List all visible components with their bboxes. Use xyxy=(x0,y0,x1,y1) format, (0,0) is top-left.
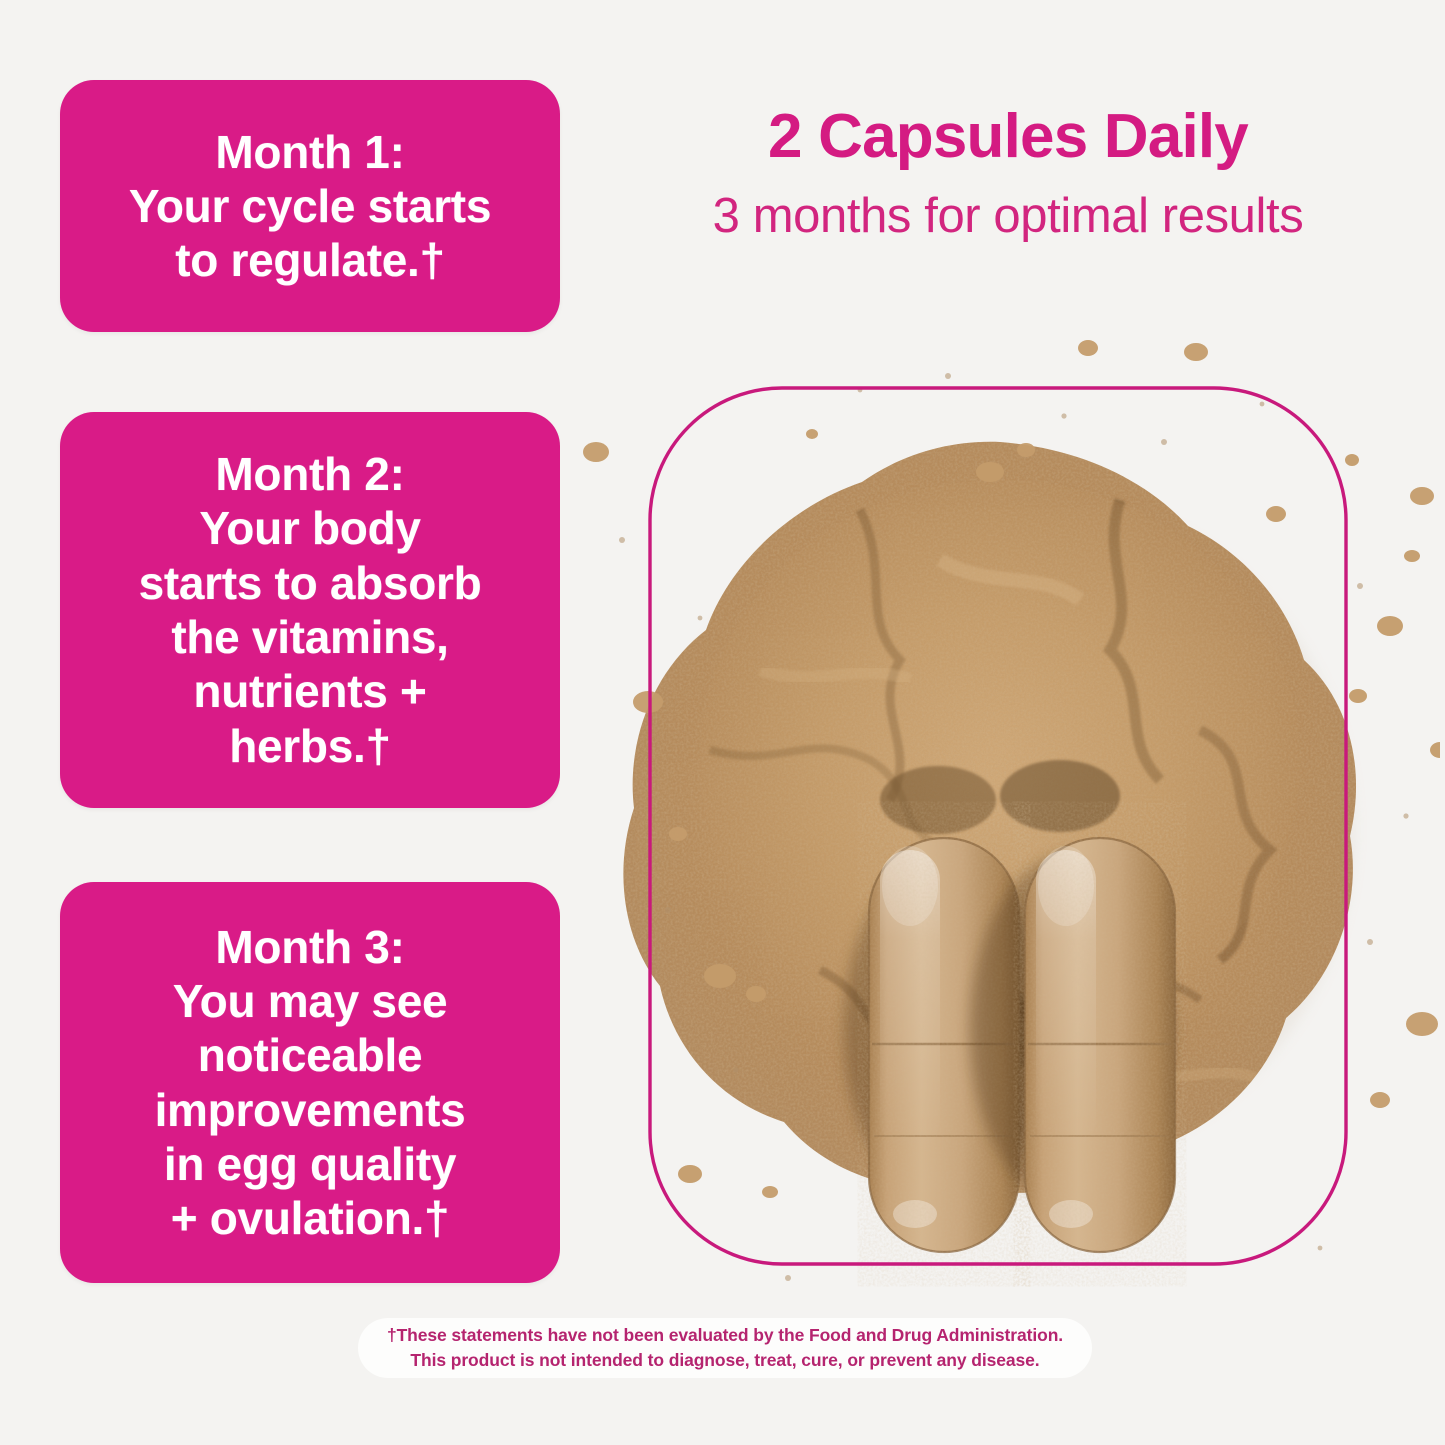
month-card-1: Month 1: Your cycle starts to regulate.† xyxy=(60,80,560,332)
capsule-group xyxy=(844,838,1175,1252)
month-card-2: Month 2: Your body starts to absorb the … xyxy=(60,412,560,808)
page-title: 2 Capsules Daily xyxy=(600,104,1416,169)
month-card-1-text: Month 1: Your cycle starts to regulate.† xyxy=(129,125,491,288)
product-photo xyxy=(560,330,1440,1290)
disclaimer-line-1: †These statements have not been evaluate… xyxy=(387,1323,1063,1348)
disclaimer-banner: †These statements have not been evaluate… xyxy=(358,1318,1092,1378)
product-photo-illustration xyxy=(560,330,1440,1290)
header-block: 2 Capsules Daily 3 months for optimal re… xyxy=(600,104,1416,243)
page-subtitle: 3 months for optimal results xyxy=(600,191,1416,242)
month-card-2-text: Month 2: Your body starts to absorb the … xyxy=(139,447,482,773)
disclaimer-line-2: This product is not intended to diagnose… xyxy=(410,1348,1039,1373)
month-card-3: Month 3: You may see noticeable improvem… xyxy=(60,882,560,1283)
infographic-canvas: Month 1: Your cycle starts to regulate.†… xyxy=(0,0,1445,1445)
month-card-3-text: Month 3: You may see noticeable improvem… xyxy=(155,920,466,1246)
